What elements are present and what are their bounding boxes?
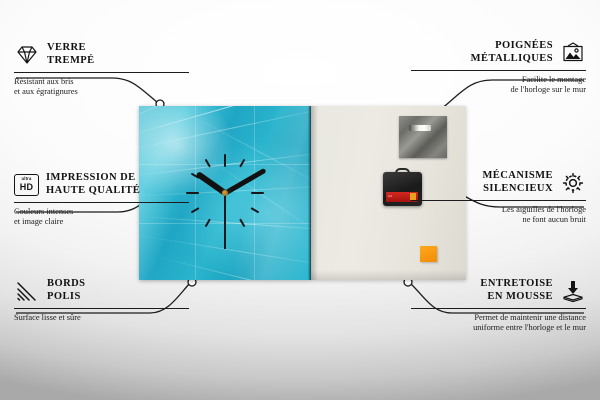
feature-title: BORDS POLIS <box>47 278 85 303</box>
feature-title: MÉCANISME SILENCIEUX <box>482 170 553 195</box>
feature-subtitle: Résistant aux bris et aux égratignures <box>14 77 189 98</box>
feature-bords-polis: BORDS POLIS Surface lisse et sûre <box>14 278 189 323</box>
feature-subtitle: Surface lisse et sûre <box>14 313 189 323</box>
feature-subtitle: Les aiguilles de l'horloge ne font aucun… <box>411 205 586 226</box>
feature-poignees-metalliques: POIGNÉES MÉTALLIQUES Facilite le montage… <box>411 40 586 96</box>
ultra-hd-badge-icon: ultra HD <box>14 174 39 196</box>
feature-title: ENTRETOISE EN MOUSSE <box>480 278 553 303</box>
beveled-edge-icon <box>14 279 40 303</box>
picture-frame-icon <box>560 41 586 65</box>
clock-center-cap <box>222 190 228 196</box>
feature-subtitle: Facilite le montage de l'horloge sur le … <box>411 75 586 96</box>
feature-title: IMPRESSION DE HAUTE QUALITÉ <box>46 172 140 197</box>
feature-verre-trempe: VERRE TREMPÉ Résistant aux bris et aux é… <box>14 42 189 98</box>
battery-label: AA <box>388 194 392 198</box>
divider <box>411 200 586 201</box>
feature-title: POIGNÉES MÉTALLIQUES <box>471 40 553 65</box>
divider <box>411 308 586 309</box>
feature-impression-haute-qualite: ultra HD IMPRESSION DE HAUTE QUALITÉ Cou… <box>14 172 189 228</box>
divider <box>14 308 189 309</box>
badge-text-hd: HD <box>20 183 34 192</box>
clock-tick-mark <box>205 159 211 168</box>
clock-second-hand <box>224 193 226 249</box>
clock-tick-mark <box>205 218 211 227</box>
feature-subtitle: Permet de maintenir une distance uniform… <box>411 313 586 334</box>
bracket-slot <box>409 125 431 131</box>
badge-text-ultra: ultra <box>21 177 31 181</box>
panel-shadow <box>311 106 318 280</box>
feature-entretoise-en-mousse: ENTRETOISE EN MOUSSE Permet de maintenir… <box>411 278 586 334</box>
feature-subtitle: Couleurs intenses et image claire <box>14 207 189 228</box>
diamond-icon <box>14 43 40 67</box>
press-down-arrow-icon <box>560 279 586 303</box>
poignee-metallique <box>399 116 447 158</box>
divider <box>14 202 189 203</box>
divider <box>14 72 189 73</box>
clock-tick-mark <box>191 207 200 213</box>
feature-title: VERRE TREMPÉ <box>47 42 95 67</box>
feature-mecanisme-silencieux: MÉCANISME SILENCIEUX Les aiguilles de l'… <box>411 170 586 226</box>
divider <box>411 70 586 71</box>
gear-icon <box>560 171 586 195</box>
entretoise-mousse <box>420 246 437 262</box>
